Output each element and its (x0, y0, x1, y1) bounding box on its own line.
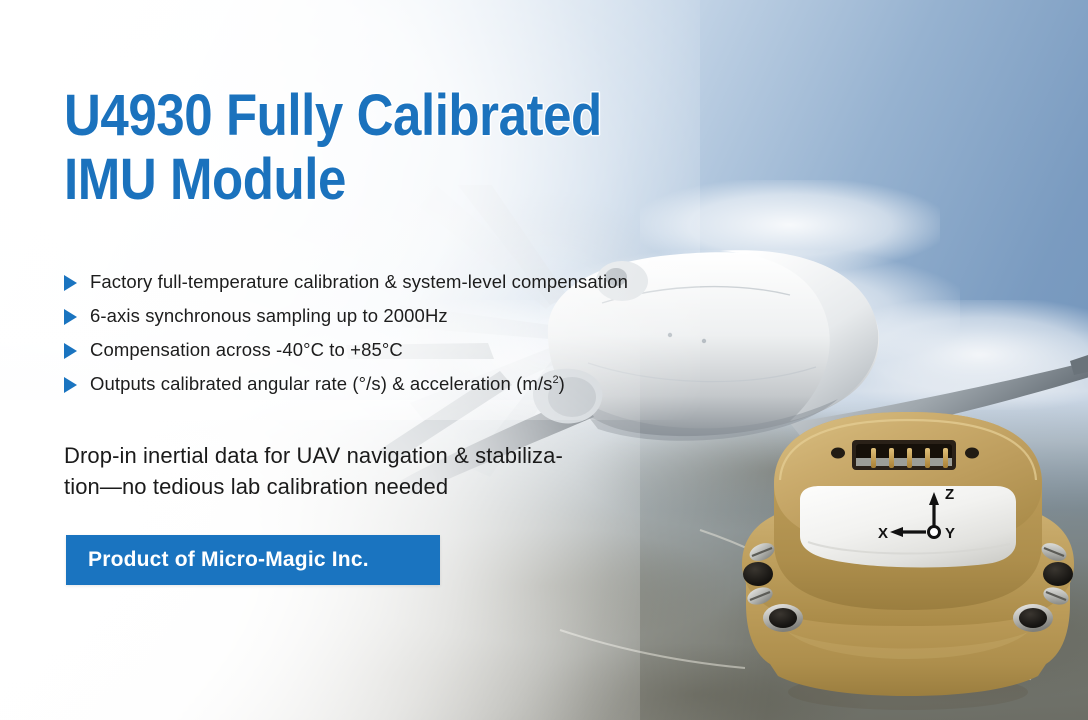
connector-pin (943, 448, 948, 468)
triangle-bullet-icon (64, 275, 77, 291)
feature-text: Factory full-temperature calibration & s… (90, 268, 628, 296)
device-label-panel (800, 486, 1016, 567)
connector-screw-hole (831, 448, 845, 459)
axis-label-x: X (878, 525, 888, 542)
imu-module-photo: Z X Y (728, 392, 1088, 720)
tagline: Drop-in inertial data for UAV navigation… (64, 440, 624, 502)
page-title: U4930 Fully Calibrated IMU Module (64, 84, 680, 212)
connector-pin (889, 448, 894, 468)
feature-text: Outputs calibrated angular rate (°/s) & … (90, 370, 565, 398)
triangle-bullet-icon (64, 343, 77, 359)
connector-pin (925, 448, 930, 468)
feature-text: 6-axis synchronous sampling up to 2000Hz (90, 302, 448, 330)
mounting-hole-counterbore (1013, 604, 1053, 632)
connector-screw-hole (965, 448, 979, 459)
axis-label-y: Y (945, 525, 955, 542)
product-of-button-label: Product of Micro-Magic Inc. (88, 548, 369, 572)
list-item: Factory full-temperature calibration & s… (64, 268, 744, 302)
product-of-button[interactable]: Product of Micro-Magic Inc. (66, 535, 440, 585)
mounting-hole (1043, 562, 1073, 586)
banner-content: U4930 Fully Calibrated IMU Module Factor… (0, 0, 760, 720)
connector-pin (871, 448, 876, 468)
triangle-bullet-icon (64, 377, 77, 393)
axis-label-z: Z (945, 486, 954, 503)
list-item: Compensation across -40°C to +85°C (64, 336, 744, 370)
feature-list: Factory full-temperature calibration & s… (64, 268, 744, 404)
mounting-hole-counterbore (763, 604, 803, 632)
list-item: Outputs calibrated angular rate (°/s) & … (64, 370, 744, 404)
mounting-hole (743, 562, 773, 586)
connector-pin (907, 448, 912, 468)
triangle-bullet-icon (64, 309, 77, 325)
device-connector-insert (856, 458, 952, 466)
axis-origin-circle (929, 527, 940, 538)
list-item: 6-axis synchronous sampling up to 2000Hz (64, 302, 744, 336)
feature-text-pre: Outputs calibrated angular rate (°/s) & … (90, 373, 552, 394)
feature-text-post: ) (559, 373, 565, 394)
feature-text: Compensation across -40°C to +85°C (90, 336, 403, 364)
